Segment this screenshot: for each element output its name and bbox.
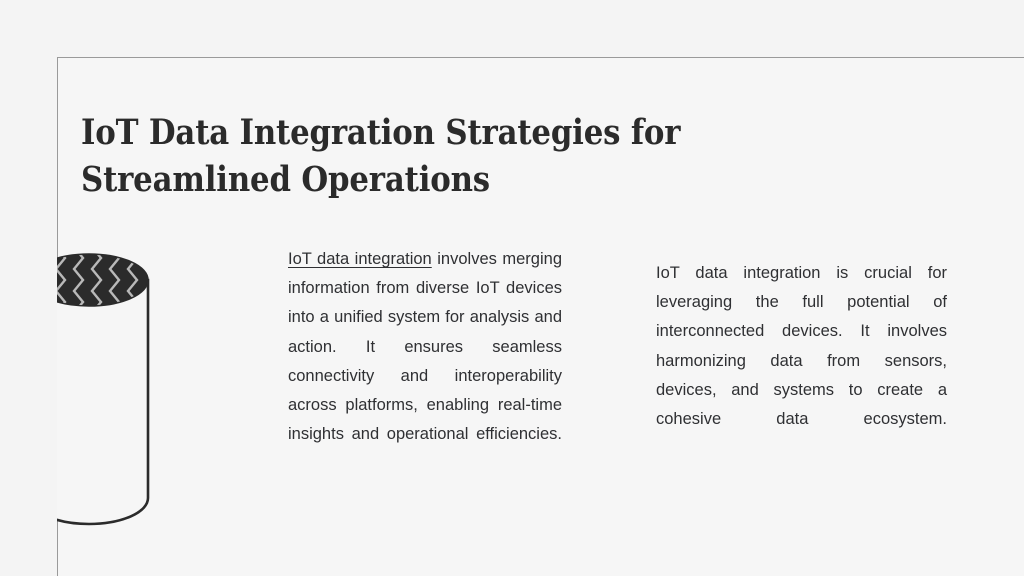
- body-column-1: IoT data integration involves merging in…: [288, 245, 562, 479]
- body-paragraph-2: IoT data integration is crucial for leve…: [656, 259, 947, 463]
- body-column-2: IoT data integration is crucial for leve…: [656, 259, 947, 463]
- body-paragraph-1: IoT data integration involves merging in…: [288, 245, 562, 479]
- lead-term: IoT data integration: [288, 250, 432, 268]
- database-cylinder-graphic: [0, 236, 160, 536]
- page-title: IoT Data Integration Strategies for Stre…: [81, 109, 847, 203]
- cylinder-icon: [0, 236, 160, 536]
- cylinder-top-pattern: [30, 254, 148, 306]
- body-text-1: involves merging information from divers…: [288, 250, 562, 443]
- slide-canvas: IoT Data Integration Strategies for Stre…: [0, 0, 1024, 576]
- cylinder-body: [30, 280, 148, 524]
